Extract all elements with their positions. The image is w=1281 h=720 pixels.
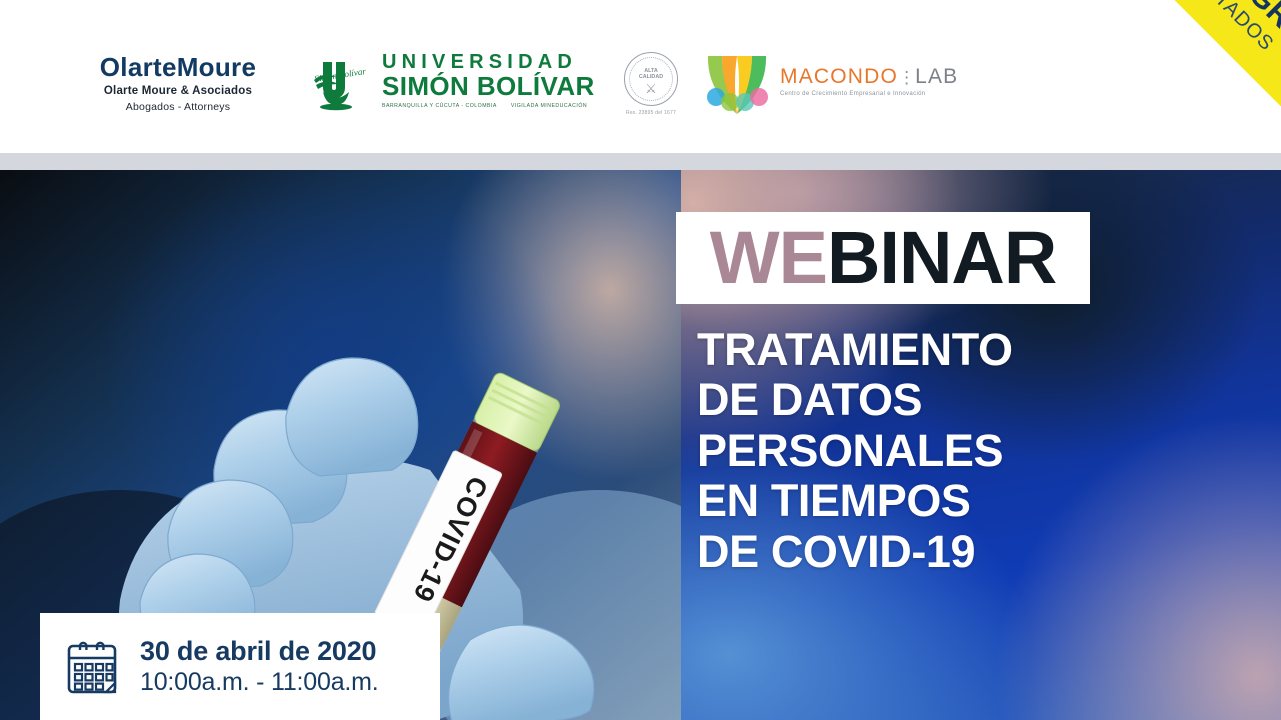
macondo-wordmark: MACONDO⋮LAB Centro de Crecimiento Empres… (780, 66, 960, 97)
macondo-separator: ⋮ (898, 68, 915, 87)
olarte-moure-wordmark: OlarteMoure (62, 54, 294, 81)
universidad-mark-icon: Simón Bolívar (310, 58, 382, 114)
header-divider (0, 153, 1281, 170)
page-title: TRATAMIENTO DE DATOS PERSONALES EN TIEMP… (697, 325, 1117, 577)
macondo-title: MACONDO⋮LAB (780, 66, 960, 87)
universidad-cities: BARRANQUILLA Y CÚCUTA - COLOMBIA (382, 103, 497, 109)
event-time: 10:00a.m. - 11:00a.m. (140, 667, 379, 697)
webinar-badge: WEBINAR (676, 212, 1090, 304)
title-line-2: DE DATOS (697, 375, 1117, 425)
macondo-tagline: Centro de Crecimiento Empresarial e Inno… (780, 91, 960, 97)
universidad-line3: BARRANQUILLA Y CÚCUTA - COLOMBIAVIGILADA… (382, 103, 590, 109)
title-line-1: TRATAMIENTO (697, 325, 1117, 375)
macondo-butterfly-icon (700, 50, 776, 120)
universidad-wordmark: UNIVERSIDAD SIMÓN BOLÍVAR BARRANQUILLA Y… (382, 52, 590, 109)
macondo-suffix: LAB (915, 65, 958, 88)
olarte-moure-subtitle: Olarte Moure & Asociados (62, 85, 294, 97)
universidad-vigilada: VIGILADA MINEDUCACIÓN (511, 103, 587, 109)
calendar-icon (64, 638, 120, 696)
event-date: 30 de abril de 2020 (140, 636, 379, 667)
title-line-3: PERSONALES (697, 426, 1117, 476)
universidad-line2: SIMÓN BOLÍVAR (382, 73, 590, 100)
seal-line2: CALIDAD (625, 74, 677, 80)
date-text-block: 30 de abril de 2020 10:00a.m. - 11:00a.m… (140, 636, 379, 697)
universidad-line1: UNIVERSIDAD (382, 52, 590, 73)
title-line-5: DE COVID-19 (697, 527, 1117, 577)
date-card: 30 de abril de 2020 10:00a.m. - 11:00a.m… (40, 613, 440, 720)
webinar-poster: OlarteMoure Olarte Moure & Asociados Abo… (0, 0, 1281, 720)
olarte-moure-part2: Moure (177, 52, 257, 82)
logo-olarte-moure: OlarteMoure Olarte Moure & Asociados Abo… (62, 54, 294, 113)
seal-emblem-icon: ⚔ (625, 82, 677, 95)
olarte-moure-part1: Olarte (100, 52, 177, 82)
olarte-moure-tagline: Abogados - Attorneys (62, 101, 294, 113)
webinar-wordmark: WEBINAR (676, 212, 1090, 304)
webinar-prefix: WE (710, 221, 827, 295)
title-line-4: EN TIEMPOS (697, 476, 1117, 526)
logo-accreditation-seal: ALTA CALIDAD ⚔ Res. 23895 del 1677 (612, 52, 690, 116)
seal-caption: Res. 23895 del 1677 (612, 110, 690, 116)
webinar-suffix: BINAR (827, 221, 1056, 295)
macondo-name: MACONDO (780, 65, 898, 88)
seal-circle-icon: ALTA CALIDAD ⚔ (624, 52, 678, 106)
header-bar: OlarteMoure Olarte Moure & Asociados Abo… (0, 0, 1281, 153)
seal-text: ALTA CALIDAD (625, 68, 677, 80)
